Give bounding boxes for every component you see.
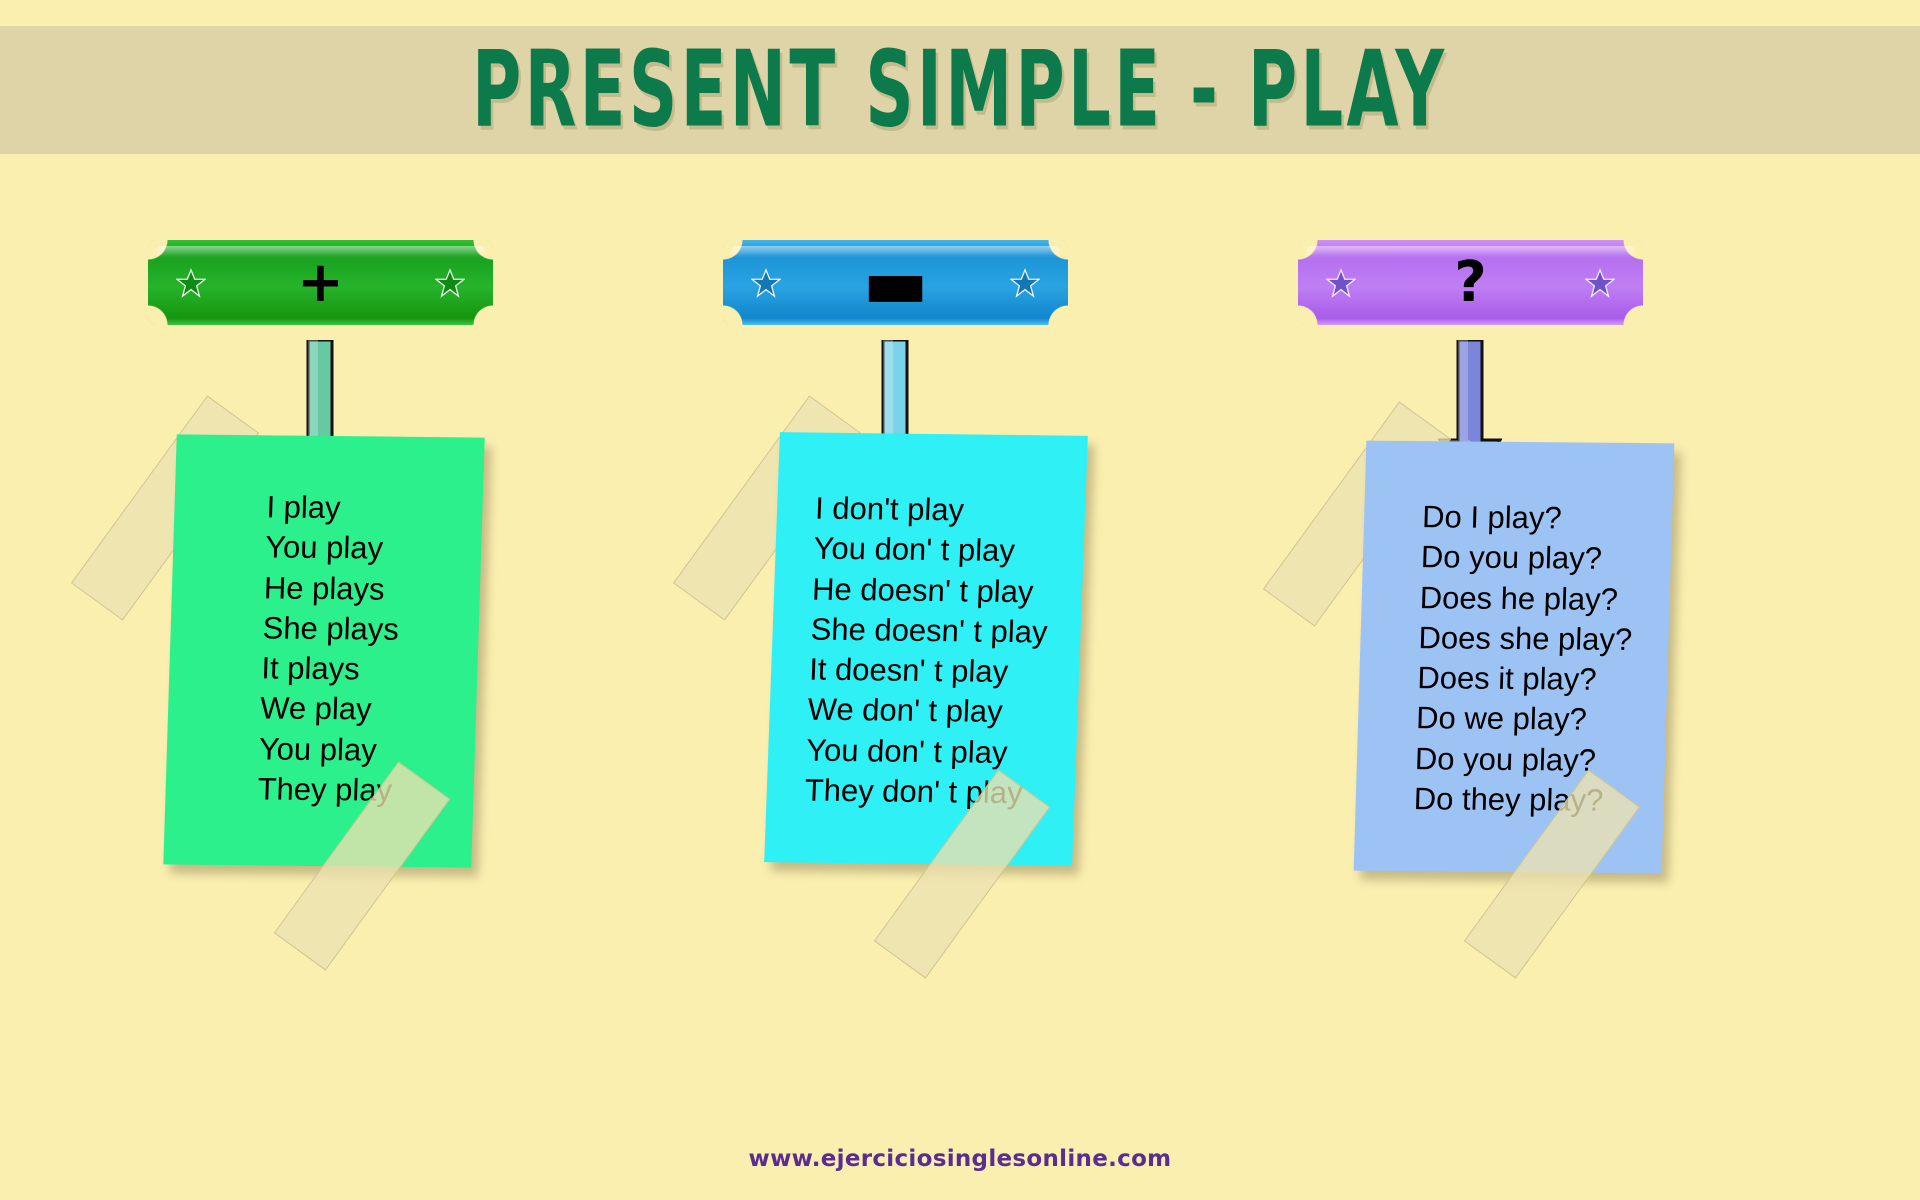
card-negative: I don't play You don' t play He doesn' t…	[764, 432, 1088, 866]
card-line: You don' t play	[813, 529, 1084, 573]
column-negative: ▬ I don't play You don' t play He doesn'…	[575, 0, 1215, 1200]
card-wrap-negative: I don't play You don' t play He doesn' t…	[575, 0, 1215, 1200]
card-negative-text: I don't play You don' t play He doesn' t…	[766, 432, 1088, 814]
card-line: We play	[260, 689, 477, 732]
card-line: They play	[257, 769, 474, 812]
card-line: You play	[265, 528, 482, 571]
card-affirmative-text: I play You play He plays She plays It pl…	[165, 434, 485, 812]
card-line: Does it play?	[1417, 658, 1668, 700]
card-line: He plays	[263, 568, 480, 611]
card-line: Do I play?	[1422, 497, 1673, 539]
card-interrogative: Do I play? Do you play? Does he play? Do…	[1354, 441, 1675, 874]
card-wrap-interrogative: Do I play? Do you play? Does he play? Do…	[1150, 0, 1790, 1200]
card-line: I don't play	[814, 489, 1085, 533]
card-affirmative: I play You play He plays She plays It pl…	[163, 434, 484, 867]
card-line: You play	[258, 729, 475, 772]
card-line: Do we play?	[1416, 699, 1667, 741]
card-line: I play	[266, 487, 483, 530]
card-line: He doesn' t play	[811, 569, 1082, 613]
card-wrap-affirmative: I play You play He plays She plays It pl…	[0, 0, 640, 1200]
worksheet-canvas: PRESENT SIMPLE - PLAY + I play You	[0, 0, 1920, 1200]
card-line: Does he play?	[1419, 578, 1670, 620]
column-interrogative: ? Do I play? Do you play? Does he play? …	[1150, 0, 1790, 1200]
card-line: We don' t play	[807, 690, 1078, 734]
card-line: Does she play?	[1418, 618, 1669, 660]
card-line: You don' t play	[806, 730, 1077, 774]
card-line: It plays	[261, 649, 478, 692]
card-line: She plays	[262, 608, 479, 651]
card-line: Do you play?	[1414, 739, 1665, 781]
card-line: Do you play?	[1420, 537, 1671, 579]
footer: www.ejerciciosinglesonline.com	[0, 1146, 1920, 1172]
column-affirmative: + I play You play He plays She plays It …	[0, 0, 640, 1200]
card-line: It doesn' t play	[808, 650, 1079, 694]
card-interrogative-text: Do I play? Do you play? Does he play? Do…	[1355, 441, 1674, 822]
website-url[interactable]: www.ejerciciosinglesonline.com	[749, 1146, 1172, 1172]
card-line: They don' t play	[804, 771, 1075, 815]
card-line: Do they play?	[1413, 779, 1664, 821]
card-line: She doesn' t play	[810, 609, 1081, 653]
